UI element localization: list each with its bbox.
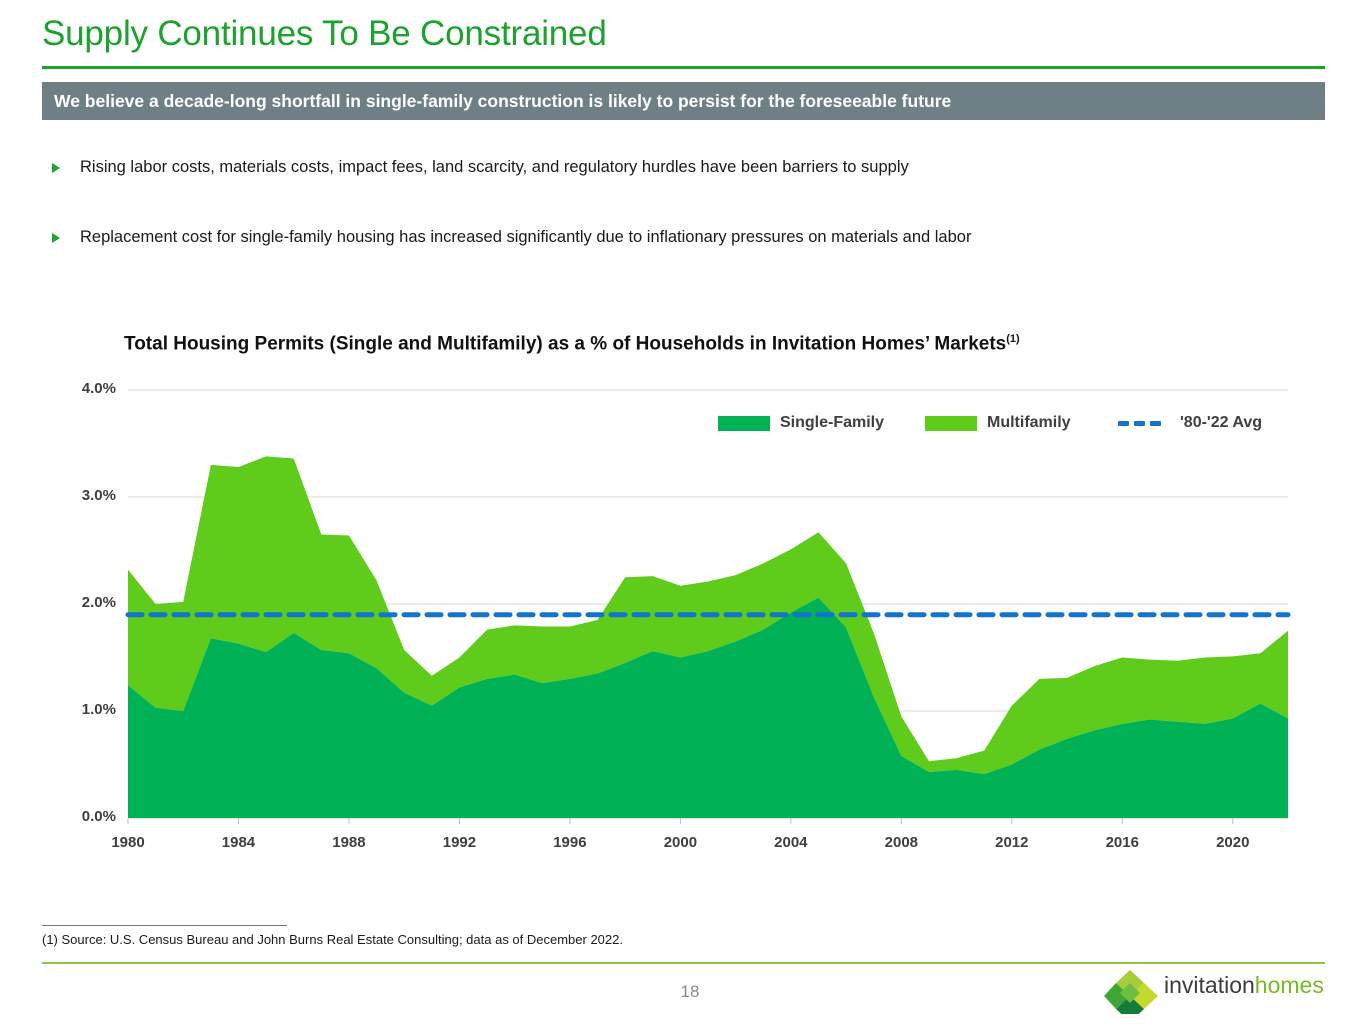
logo-word-homes: homes <box>1255 972 1324 998</box>
y-tick-label: 4.0% <box>46 380 116 397</box>
logo-word-invitation: invitation <box>1164 972 1255 998</box>
legend-label-multifamily: Multifamily <box>987 414 1071 432</box>
x-tick-label: 2016 <box>1092 834 1152 851</box>
legend-item-multifamily[interactable]: Multifamily <box>925 414 1071 436</box>
legend-label-average: '80-'22 Avg <box>1180 414 1262 432</box>
triangle-bullet-icon <box>52 163 60 173</box>
x-tick-label: 2000 <box>650 834 710 851</box>
page-number: 18 <box>650 982 730 1002</box>
y-tick-label: 1.0% <box>46 701 116 718</box>
y-tick-label: 0.0% <box>46 808 116 825</box>
subtitle-banner: We believe a decade-long shortfall in si… <box>42 82 1325 120</box>
y-tick-label: 2.0% <box>46 594 116 611</box>
logo-pinwheel-icon <box>1104 970 1158 1014</box>
area-multifamily <box>128 456 1288 774</box>
x-tick-label: 2004 <box>761 834 821 851</box>
legend-label-single-family: Single-Family <box>780 414 884 432</box>
legend-dash-average-icon <box>1118 416 1170 431</box>
footnote-text: (1) Source: U.S. Census Bureau and John … <box>42 932 623 947</box>
page-title: Supply Continues To Be Constrained <box>42 14 607 54</box>
x-tick-label: 2008 <box>871 834 931 851</box>
legend-item-average[interactable]: '80-'22 Avg <box>1118 414 1262 436</box>
legend-item-single-family[interactable]: Single-Family <box>718 414 884 436</box>
bullet-text: Replacement cost for single-family housi… <box>80 228 971 247</box>
x-tick-label: 2020 <box>1203 834 1263 851</box>
x-tick-label: 1996 <box>540 834 600 851</box>
triangle-bullet-icon <box>52 233 60 243</box>
invitation-homes-logo: invitationhomes™ <box>1096 966 1324 1014</box>
x-tick-label: 1980 <box>98 834 158 851</box>
x-tick-label: 1988 <box>319 834 379 851</box>
x-tick-label: 1992 <box>429 834 489 851</box>
bullet-text: Rising labor costs, materials costs, imp… <box>80 158 909 177</box>
y-tick-label: 3.0% <box>46 487 116 504</box>
chart-title: Total Housing Permits (Single and Multif… <box>124 333 1020 355</box>
chart-title-text: Total Housing Permits (Single and Multif… <box>124 333 1006 354</box>
footnote-divider <box>42 925 287 926</box>
stacked-area-chart <box>0 0 1365 1024</box>
subtitle-text: We believe a decade-long shortfall in si… <box>54 91 951 112</box>
title-divider <box>42 66 1325 69</box>
footer-divider <box>42 962 1325 964</box>
legend-swatch-multifamily <box>925 416 977 431</box>
legend-swatch-single-family <box>718 416 770 431</box>
x-tick-label: 1984 <box>208 834 268 851</box>
x-tick-label: 2012 <box>982 834 1042 851</box>
area-single-family <box>128 598 1288 818</box>
chart-title-footnote-marker: (1) <box>1006 333 1019 345</box>
